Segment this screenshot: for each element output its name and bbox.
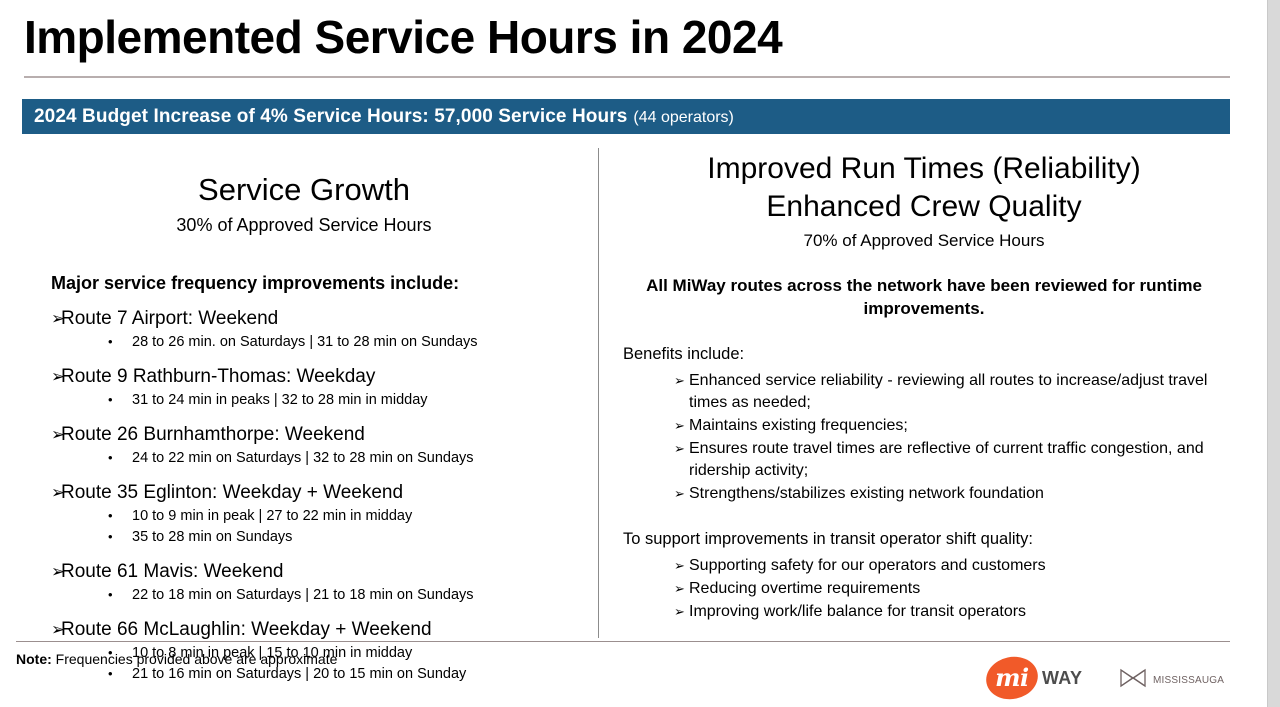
mississauga-bowtie-icon: [1120, 668, 1146, 688]
banner-main-text: 2024 Budget Increase of 4% Service Hours…: [34, 106, 627, 128]
route-title: Route 35 Eglinton: Weekday + Weekend: [61, 481, 403, 505]
service-growth-heading: Service Growth: [24, 172, 584, 208]
run-times-statement: All MiWay routes across the network have…: [614, 274, 1234, 320]
column-divider: [598, 148, 599, 638]
dot-bullet-icon: •: [24, 527, 132, 546]
arrow-bullet-icon: ➢: [674, 555, 689, 577]
page-edge-strip: [1267, 0, 1280, 707]
list-item: ➢ Reducing overtime requirements: [674, 578, 1234, 600]
benefit-text: Enhanced service reliability - reviewing…: [689, 370, 1234, 414]
slide-canvas: Implemented Service Hours in 2024 2024 B…: [0, 0, 1280, 707]
route-detail-text: 22 to 18 min on Saturdays | 21 to 18 min…: [132, 586, 474, 605]
banner-sub-text: (44 operators): [633, 109, 734, 127]
route-detail-text: 31 to 24 min in peaks | 32 to 28 min in …: [132, 391, 428, 410]
dot-bullet-icon: •: [24, 506, 132, 525]
mississauga-word-text: mississauga: [1153, 670, 1224, 686]
route-detail: • 35 to 28 min on Sundays: [24, 527, 584, 547]
shift-quality-text: Improving work/life balance for transit …: [689, 601, 1026, 623]
shift-quality-text: Reducing overtime requirements: [689, 578, 920, 600]
route-header: ➢ Route 26 Burnhamthorpe: Weekend: [24, 423, 584, 447]
arrow-bullet-icon: ➢: [674, 370, 689, 392]
route-item: ➢ Route 9 Rathburn-Thomas: Weekday • 31 …: [24, 365, 584, 410]
route-list: ➢ Route 7 Airport: Weekend • 28 to 26 mi…: [24, 307, 584, 684]
benefits-list: ➢ Enhanced service reliability - reviewi…: [674, 370, 1234, 505]
shift-quality-lead: To support improvements in transit opera…: [623, 528, 1234, 550]
run-times-subheading: 70% of Approved Service Hours: [614, 229, 1234, 253]
shift-quality-list: ➢ Supporting safety for our operators an…: [674, 555, 1234, 623]
route-title: Route 9 Rathburn-Thomas: Weekday: [61, 365, 375, 389]
route-item: ➢ Route 61 Mavis: Weekend • 22 to 18 min…: [24, 560, 584, 605]
arrow-bullet-icon: ➢: [24, 423, 61, 447]
footer-divider: [16, 641, 1230, 642]
list-item: ➢ Strengthens/stabilizes existing networ…: [674, 483, 1234, 505]
arrow-bullet-icon: ➢: [24, 618, 61, 642]
route-detail-text: 35 to 28 min on Sundays: [132, 528, 292, 547]
list-item: ➢ Ensures route travel times are reflect…: [674, 438, 1234, 482]
benefits-lead: Benefits include:: [623, 343, 1234, 365]
route-title: Route 26 Burnhamthorpe: Weekend: [61, 423, 365, 447]
arrow-bullet-icon: ➢: [674, 483, 689, 505]
route-title: Route 66 McLaughlin: Weekday + Weekend: [61, 618, 432, 642]
route-item: ➢ Route 35 Eglinton: Weekday + Weekend •…: [24, 481, 584, 547]
mississauga-logo: mississauga: [1120, 668, 1224, 688]
route-item: ➢ Route 26 Burnhamthorpe: Weekend • 24 t…: [24, 423, 584, 468]
arrow-bullet-icon: ➢: [24, 365, 61, 389]
arrow-bullet-icon: ➢: [674, 578, 689, 600]
service-growth-subheading: 30% of Approved Service Hours: [24, 213, 584, 237]
shift-quality-text: Supporting safety for our operators and …: [689, 555, 1046, 577]
route-title: Route 7 Airport: Weekend: [61, 307, 278, 331]
benefit-text: Ensures route travel times are reflectiv…: [689, 438, 1234, 482]
title-divider: [24, 76, 1230, 78]
route-header: ➢ Route 61 Mavis: Weekend: [24, 560, 584, 584]
arrow-bullet-icon: ➢: [674, 438, 689, 460]
arrow-bullet-icon: ➢: [674, 415, 689, 437]
route-title: Route 61 Mavis: Weekend: [61, 560, 284, 584]
run-times-column: Improved Run Times (Reliability) Enhance…: [614, 150, 1234, 623]
arrow-bullet-icon: ➢: [674, 601, 689, 623]
dot-bullet-icon: •: [24, 390, 132, 409]
miway-logo: mi WAY: [986, 657, 1082, 699]
route-detail: • 22 to 18 min on Saturdays | 21 to 18 m…: [24, 585, 584, 605]
dot-bullet-icon: •: [24, 448, 132, 467]
benefit-text: Maintains existing frequencies;: [689, 415, 908, 437]
dot-bullet-icon: •: [24, 585, 132, 604]
footer-note-text: Frequencies provided above are approxima…: [56, 651, 338, 667]
route-detail-text: 28 to 26 min. on Saturdays | 31 to 28 mi…: [132, 333, 478, 352]
run-times-heading-line2: Enhanced Crew Quality: [614, 188, 1234, 226]
route-item: ➢ Route 7 Airport: Weekend • 28 to 26 mi…: [24, 307, 584, 352]
service-growth-column: Service Growth 30% of Approved Service H…: [24, 150, 584, 684]
route-header: ➢ Route 7 Airport: Weekend: [24, 307, 584, 331]
route-detail-text: 10 to 9 min in peak | 27 to 22 min in mi…: [132, 507, 412, 526]
list-item: ➢ Improving work/life balance for transi…: [674, 601, 1234, 623]
run-times-heading: Improved Run Times (Reliability) Enhance…: [614, 150, 1234, 226]
route-header: ➢ Route 35 Eglinton: Weekday + Weekend: [24, 481, 584, 505]
route-detail: • 31 to 24 min in peaks | 32 to 28 min i…: [24, 390, 584, 410]
run-times-heading-line1: Improved Run Times (Reliability): [614, 150, 1234, 188]
miway-mark-text: mi: [995, 663, 1029, 692]
service-growth-lead: Major service frequency improvements inc…: [51, 273, 584, 294]
list-item: ➢ Supporting safety for our operators an…: [674, 555, 1234, 577]
list-item: ➢ Maintains existing frequencies;: [674, 415, 1234, 437]
dot-bullet-icon: •: [24, 332, 132, 351]
benefit-text: Strengthens/stabilizes existing network …: [689, 483, 1044, 505]
arrow-bullet-icon: ➢: [24, 307, 61, 331]
budget-banner: 2024 Budget Increase of 4% Service Hours…: [22, 99, 1230, 134]
arrow-bullet-icon: ➢: [24, 481, 61, 505]
route-detail-text: 24 to 22 min on Saturdays | 32 to 28 min…: [132, 449, 474, 468]
route-detail: • 10 to 9 min in peak | 27 to 22 min in …: [24, 506, 584, 526]
footer-note: Note: Frequencies provided above are app…: [16, 650, 337, 669]
footer-note-label: Note:: [16, 651, 52, 667]
arrow-bullet-icon: ➢: [24, 560, 61, 584]
route-header: ➢ Route 9 Rathburn-Thomas: Weekday: [24, 365, 584, 389]
route-detail: • 28 to 26 min. on Saturdays | 31 to 28 …: [24, 332, 584, 352]
route-detail: • 24 to 22 min on Saturdays | 32 to 28 m…: [24, 448, 584, 468]
page-title: Implemented Service Hours in 2024: [24, 11, 782, 63]
miway-oval-icon: mi: [982, 652, 1042, 704]
route-header: ➢ Route 66 McLaughlin: Weekday + Weekend: [24, 618, 584, 642]
miway-word-text: WAY: [1042, 668, 1082, 689]
list-item: ➢ Enhanced service reliability - reviewi…: [674, 370, 1234, 414]
